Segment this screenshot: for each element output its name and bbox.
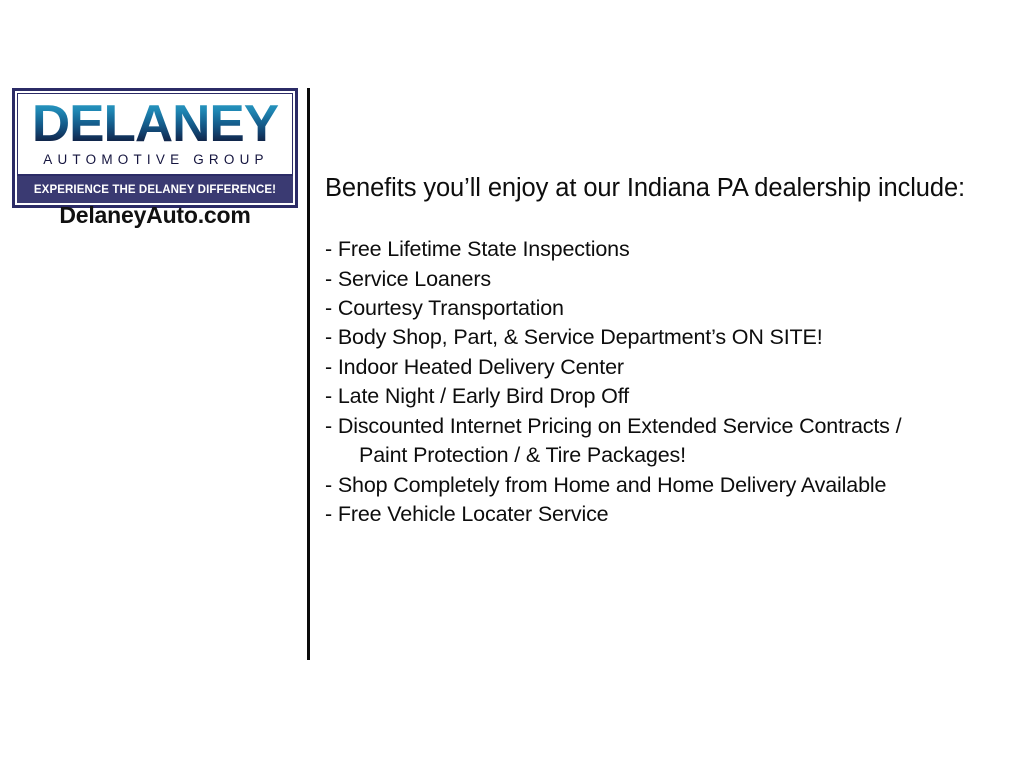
benefits-list: - Free Lifetime State Inspections - Serv…: [325, 235, 1005, 530]
list-item-text: - Body Shop, Part, & Service Department’…: [325, 325, 823, 349]
list-item-continuation: Paint Protection / & Tire Packages!: [325, 441, 1005, 470]
website-url: DelaneyAuto.com: [12, 202, 298, 229]
list-item-text: - Free Vehicle Locater Service: [325, 502, 609, 526]
delaney-logo: DELANEY AUTOMOTIVE GROUP EXPERIENCE THE …: [12, 88, 298, 208]
list-item-text: - Courtesy Transportation: [325, 296, 564, 320]
list-item: - Late Night / Early Bird Drop Off: [325, 382, 1005, 411]
slide-canvas: DELANEY AUTOMOTIVE GROUP EXPERIENCE THE …: [0, 0, 1024, 768]
logo-inner-panel: DELANEY AUTOMOTIVE GROUP: [17, 93, 293, 175]
list-item: - Body Shop, Part, & Service Department’…: [325, 323, 1005, 352]
list-item-text: - Shop Completely from Home and Home Del…: [325, 473, 886, 497]
logo-tagline-text: EXPERIENCE THE DELANEY DIFFERENCE!: [34, 184, 276, 196]
list-item: - Courtesy Transportation: [325, 294, 1005, 323]
brand-column: DELANEY AUTOMOTIVE GROUP EXPERIENCE THE …: [0, 0, 308, 768]
list-item: - Indoor Heated Delivery Center: [325, 353, 1005, 382]
logo-wordmark: DELANEY: [21, 99, 288, 151]
list-item: - Shop Completely from Home and Home Del…: [325, 471, 1005, 500]
vertical-divider: [307, 88, 310, 660]
list-item-text: - Service Loaners: [325, 267, 491, 291]
logo-outer-frame: DELANEY AUTOMOTIVE GROUP EXPERIENCE THE …: [12, 88, 298, 208]
list-item: - Discounted Internet Pricing on Extende…: [325, 412, 1005, 471]
list-item-text: - Late Night / Early Bird Drop Off: [325, 384, 629, 408]
list-item: - Free Lifetime State Inspections: [325, 235, 1005, 264]
list-item: - Service Loaners: [325, 265, 1005, 294]
list-item-text: - Free Lifetime State Inspections: [325, 237, 630, 261]
list-item: - Free Vehicle Locater Service: [325, 500, 1005, 529]
logo-tagline-bar: EXPERIENCE THE DELANEY DIFFERENCE!: [17, 175, 293, 203]
list-item-text: - Indoor Heated Delivery Center: [325, 355, 624, 379]
page-title: Benefits you’ll enjoy at our Indiana PA …: [325, 172, 1005, 204]
list-item-text: - Discounted Internet Pricing on Extende…: [325, 414, 901, 438]
logo-subtitle: AUTOMOTIVE GROUP: [24, 151, 286, 171]
content-column: Benefits you’ll enjoy at our Indiana PA …: [325, 172, 1005, 530]
